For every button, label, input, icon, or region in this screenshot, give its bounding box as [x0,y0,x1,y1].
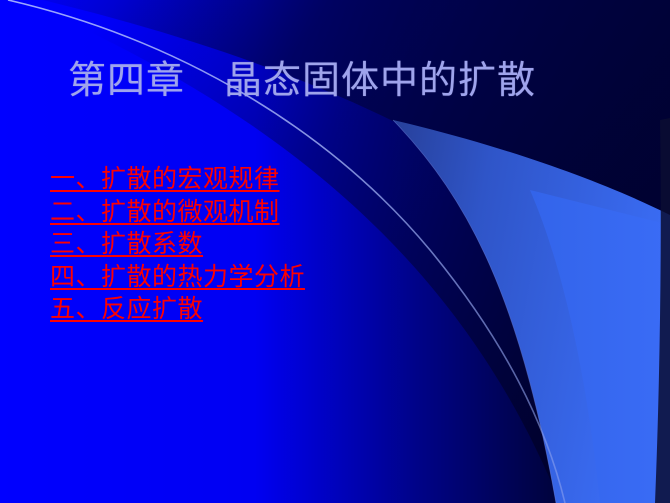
toc-item-2[interactable]: 二、扩散的微观机制 [50,196,480,229]
toc-item-4[interactable]: 四、扩散的热力学分析 [50,261,480,294]
slide-content: 第四章 晶态固体中的扩散 一、扩散的宏观规律 二、扩散的微观机制 三、扩散系数 … [0,0,670,503]
toc-item-5[interactable]: 五、反应扩散 [50,293,480,326]
page-title: 第四章 晶态固体中的扩散 [68,55,536,105]
toc-item-3[interactable]: 三、扩散系数 [50,228,480,261]
toc-item-1[interactable]: 一、扩散的宏观规律 [50,163,480,196]
table-of-contents: 一、扩散的宏观规律 二、扩散的微观机制 三、扩散系数 四、扩散的热力学分析 五、… [50,163,480,326]
presentation-slide: 第四章 晶态固体中的扩散 一、扩散的宏观规律 二、扩散的微观机制 三、扩散系数 … [0,0,670,503]
